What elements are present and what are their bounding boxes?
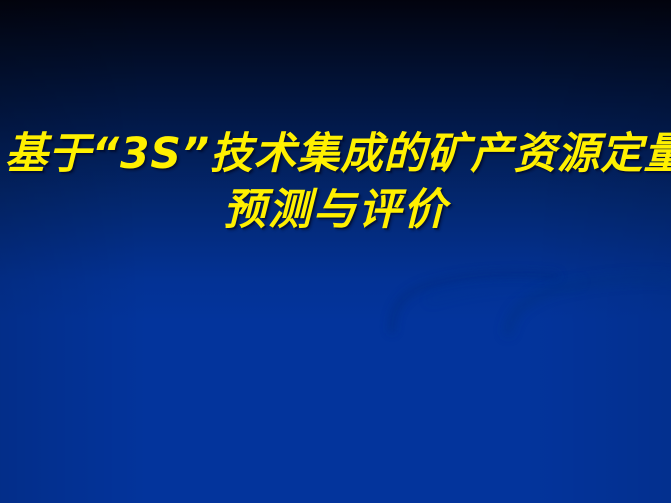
slide-title-line-2: 预测与评价: [0, 184, 671, 236]
presentation-slide: 基于“3S”技术集成的矿产资源定量 预测与评价: [0, 0, 671, 503]
slide-title-block: 基于“3S”技术集成的矿产资源定量 预测与评价: [0, 128, 671, 236]
background-vignette: [0, 0, 671, 503]
slide-title-line-1: 基于“3S”技术集成的矿产资源定量: [5, 128, 666, 180]
